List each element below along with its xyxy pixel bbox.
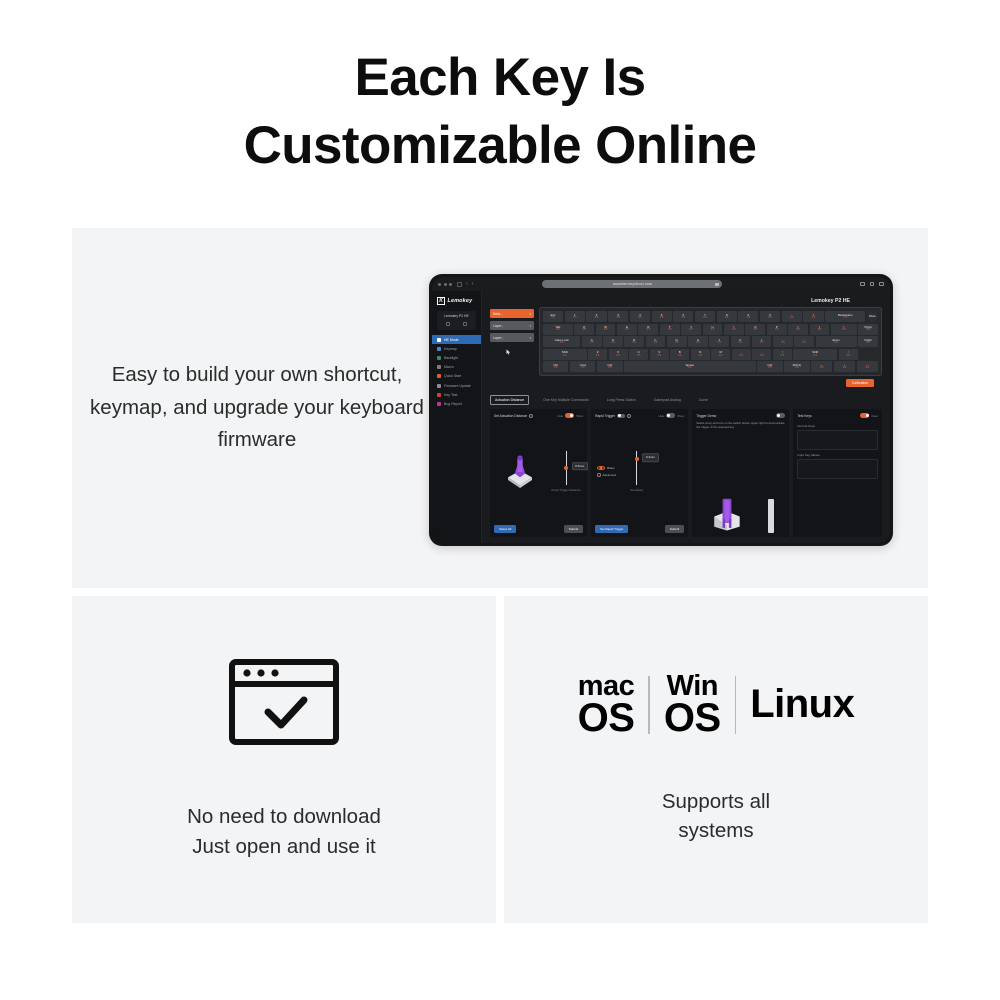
radio-dot-icon[interactable] xyxy=(597,466,605,469)
feature-card-no-download: No need to download Just open and use it xyxy=(72,596,496,923)
key-caps-lock[interactable]: Caps Lock0.5 xyxy=(543,336,580,347)
sidebar-item-key-test[interactable]: Key Test xyxy=(432,390,481,399)
key-actuation-value: 0.5 xyxy=(596,355,599,358)
key-actuation-value: 0.5 xyxy=(689,329,692,332)
submit-button[interactable]: Submit xyxy=(564,525,583,533)
no-download-line-2: Just open and use it xyxy=(187,832,381,862)
tab-actuation-distance[interactable]: Actuation Distance xyxy=(490,395,529,405)
key-actuation-value: 0.5 xyxy=(688,367,691,370)
key-1[interactable]: 10.5 xyxy=(565,311,585,322)
slider-caption: Sensitivity xyxy=(630,488,643,492)
key--[interactable]: ↓0.5 xyxy=(834,361,855,372)
bluetooth-icon[interactable] xyxy=(463,322,467,326)
os-logos: mac OS Win OS Linux xyxy=(578,673,855,736)
mode-radio-group[interactable]: Basic Advanced xyxy=(595,421,616,523)
key-n[interactable]: N0.5 xyxy=(691,349,710,360)
key-actuation-value: 0.5 xyxy=(866,367,869,370)
calibration-row: Calibration xyxy=(490,376,882,387)
feature-card-customize: Easy to build your own shortcut, keymap,… xyxy=(72,228,928,588)
key-actuation-value: 0.5 xyxy=(563,355,566,358)
slider-caption: Press Trigger Distance xyxy=(552,488,581,492)
card-test-keys: Test Keys Clear Current Keys Input Key xyxy=(793,409,882,537)
sidebar-item-label: Backlight xyxy=(444,356,458,360)
key-actuation-value: 0.5 xyxy=(551,317,554,320)
sidebar-item-firmware-update[interactable]: Firmware Update xyxy=(432,381,481,390)
clear-button[interactable]: Clear xyxy=(871,414,878,418)
key-opt[interactable]: Opt0.5 xyxy=(597,361,622,372)
tab-one-key-multiple-commands[interactable]: One Key Multiple Commands xyxy=(539,396,593,404)
key-r[interactable]: R0.5 xyxy=(638,324,658,335)
help-icon[interactable] xyxy=(529,414,533,418)
tab-gamepad-analog[interactable]: Gamepad Analog xyxy=(650,396,685,404)
key-actuation-value: 0.5 xyxy=(638,317,641,320)
key-i[interactable]: I0.5 xyxy=(724,324,744,335)
key--[interactable]: -0.5 xyxy=(782,311,802,322)
key--[interactable]: ←0.5 xyxy=(811,361,832,372)
card-header: Test Keys Clear xyxy=(797,413,878,418)
board-title: Lemokey P2 HE xyxy=(490,298,882,304)
key-actuation-value: 0.5 xyxy=(717,342,720,345)
no-download-line-1: No need to download xyxy=(187,802,381,832)
radio-basic[interactable]: Basic xyxy=(597,466,616,470)
key-actuation-value: 0.5 xyxy=(616,317,619,320)
card-body: 0.5mm Press Trigger Distance xyxy=(494,421,583,523)
travel-bar xyxy=(768,499,774,533)
key-actuation-value: 0.5 xyxy=(812,317,815,320)
stage-row: Defa... ▾ Layer... ▾ Layer... xyxy=(490,307,882,376)
sidebar-item-label: Macro xyxy=(444,365,454,369)
headline-line-2: Customizable Online xyxy=(0,112,1000,180)
firmware-update-icon xyxy=(437,384,441,388)
slider-track[interactable]: 0.5mm xyxy=(566,451,567,485)
key-actuation-value: 0.5 xyxy=(668,329,671,332)
select-all-button[interactable]: Select All xyxy=(494,525,516,533)
toggle-switch[interactable] xyxy=(666,413,675,418)
sensitivity-slider[interactable]: 0.4mm Sensitivity xyxy=(620,421,654,523)
key-8[interactable]: 80.5 xyxy=(717,311,737,322)
switch-render xyxy=(494,421,545,523)
tab-curve[interactable]: Curve xyxy=(695,396,712,404)
key-ctrl[interactable]: Ctrl0.5 xyxy=(543,361,568,372)
close-icon[interactable] xyxy=(438,283,441,286)
lemokey-mark-icon: K xyxy=(437,297,445,305)
chevron-down-icon: ▾ xyxy=(529,324,531,328)
panel-cards: Set Actuation Distance Hide Show xyxy=(490,409,882,537)
keyboard-row: Tab0.5Q0.5W0.5E0.5R0.5T0.5Y0.5U0.5I0.5O0… xyxy=(543,324,878,335)
key-actuation-value: 0.5 xyxy=(781,342,784,345)
rapid-trigger-toggle[interactable] xyxy=(617,414,625,418)
key-actuation-value: 0.5 xyxy=(678,355,681,358)
key-b[interactable]: B0.5 xyxy=(670,349,689,360)
input-key-values-label: Input Key Values xyxy=(797,453,878,457)
maximize-icon[interactable] xyxy=(449,283,452,286)
hide-show-toggle[interactable]: Hide Show xyxy=(557,413,583,418)
key-blank xyxy=(859,349,878,360)
key-7[interactable]: 70.5 xyxy=(695,311,715,322)
key-actuation-value: 0.5 xyxy=(711,329,714,332)
keymap-icon xyxy=(437,347,441,351)
key-actuation-value: 0.5 xyxy=(654,342,657,345)
key-s[interactable]: S0.5 xyxy=(603,336,623,347)
card-trigger-demo: Trigger Demo Select a key and turn on th… xyxy=(692,409,789,537)
set-rapid-trigger-button[interactable]: Set Rapid Trigger xyxy=(595,525,628,533)
key--[interactable]: [0.5 xyxy=(788,324,808,335)
key-g[interactable]: G0.5 xyxy=(667,336,687,347)
sidebar-item-backlight[interactable]: Backlight xyxy=(432,353,481,362)
card-description: Select a key and turn on the switch butt… xyxy=(696,421,785,430)
key--[interactable]: ;0.5 xyxy=(773,336,793,347)
slider-track[interactable]: 0.4mm xyxy=(636,451,637,485)
key-actuation-value: 0.5 xyxy=(754,329,757,332)
address-bar[interactable]: launcher.keychron.com xyxy=(542,280,722,288)
card-header: Set Actuation Distance Hide Show xyxy=(494,413,583,418)
key-actuation-value: 0.5 xyxy=(699,355,702,358)
key-actuation-value: 0.5 xyxy=(703,317,706,320)
key-c[interactable]: C0.5 xyxy=(629,349,648,360)
forward-arrow-icon[interactable]: › xyxy=(472,282,474,287)
key-3[interactable]: 30.5 xyxy=(608,311,628,322)
browser-chrome: ‹ › launcher.keychron.com xyxy=(432,277,890,291)
select-default-layer[interactable]: Defa... ▾ xyxy=(490,309,534,318)
feature-row-bottom: No need to download Just open and use it… xyxy=(72,596,928,923)
keyboard-row: Caps Lock0.5A0.5S0.5D0.5F0.5G0.5H0.5J0.5… xyxy=(543,336,878,347)
sidebar-item-label: Quick Start xyxy=(444,374,461,378)
key-mo-1-[interactable]: MO(1)0.5 xyxy=(784,361,809,372)
slider-thumb[interactable] xyxy=(564,466,568,470)
key-k[interactable]: K0.5 xyxy=(731,336,751,347)
select-layer-3[interactable]: Layer... ▾ xyxy=(490,333,534,342)
key--[interactable]: →0.5 xyxy=(857,361,878,372)
address-bar-url: launcher.keychron.com xyxy=(613,282,652,286)
card-title: Trigger Demo xyxy=(696,414,716,418)
key-actuation-value: 0.5 xyxy=(760,355,763,358)
key-actuation-value: 0.5 xyxy=(796,329,799,332)
minimize-icon[interactable] xyxy=(444,283,447,286)
calibration-button[interactable]: Calibration xyxy=(846,379,874,387)
tab-long-press-switch[interactable]: Long Press Switch xyxy=(603,396,640,404)
chevron-down-icon: ▾ xyxy=(529,312,531,316)
share-icon[interactable] xyxy=(860,282,865,287)
toggle-switch[interactable] xyxy=(565,413,574,418)
demo-toggle[interactable] xyxy=(776,413,785,418)
show-label: Show xyxy=(576,414,583,418)
sidebar-item-label: HE Mode xyxy=(444,338,459,342)
help-icon[interactable] xyxy=(627,414,631,418)
supports-line-1: Supports all xyxy=(662,787,770,817)
key-actuation-value: 0.5 xyxy=(611,342,614,345)
key-9[interactable]: 90.5 xyxy=(738,311,758,322)
key--[interactable]: ,0.5 xyxy=(732,349,751,360)
key-tab[interactable]: Tab0.5 xyxy=(543,324,573,335)
sidebar-item-he-mode[interactable]: HE Mode xyxy=(432,335,481,344)
key-pgup[interactable]: PgUp0.5 xyxy=(858,324,878,335)
key-actuation-value: 0.5 xyxy=(818,329,821,332)
device-card[interactable]: Lemokey P2 HE xyxy=(437,311,476,330)
key-h[interactable]: H0.5 xyxy=(688,336,708,347)
key-w[interactable]: W0.5 xyxy=(596,324,616,335)
backlight-icon xyxy=(437,356,441,360)
sidebar-item-label: Keymap xyxy=(444,347,457,351)
keyboard-row: Esc0.510.520.530.540.550.560.570.580.590… xyxy=(543,311,878,322)
key-m[interactable]: M0.5 xyxy=(711,349,730,360)
key-actuation-value: 0.5 xyxy=(632,342,635,345)
key-actuation-value: 0.5 xyxy=(647,329,650,332)
key-actuation-value: 0.5 xyxy=(725,317,728,320)
card-title: Test Keys xyxy=(797,414,811,418)
key--[interactable]: ]0.5 xyxy=(810,324,830,335)
app-sidebar: K Lemokey Lemokey P2 HE HE xyxy=(432,291,482,543)
key-actuation-value: 0.5 xyxy=(682,317,685,320)
key-y[interactable]: Y0.5 xyxy=(681,324,701,335)
keyboard-stage: Lemokey P2 HE Defa... ▾ Layer... xyxy=(482,291,890,391)
bug-report-icon xyxy=(437,402,441,406)
key-t[interactable]: T0.5 xyxy=(660,324,680,335)
key-actuation-value: 0.5 xyxy=(790,317,793,320)
card-title: Rapid Trigger xyxy=(595,414,631,418)
hide-label: Hide xyxy=(658,414,664,418)
keyboard-row: Shift0.5Z0.5X0.5C0.5V0.5B0.5N0.5M0.5,0.5… xyxy=(543,349,878,360)
back-arrow-icon[interactable]: ‹ xyxy=(466,282,468,287)
card-title: Set Actuation Distance xyxy=(494,414,533,418)
reader-mode-icon[interactable] xyxy=(715,283,719,286)
key-u[interactable]: U0.5 xyxy=(703,324,723,335)
winos-logo: Win OS xyxy=(664,673,721,736)
key--[interactable]: '0.5 xyxy=(794,336,814,347)
key-actuation-value: 0.5 xyxy=(802,342,805,345)
laptop-mockup: ‹ › launcher.keychron.com xyxy=(429,274,893,546)
key-actuation-value: 0.5 xyxy=(844,317,847,320)
sidebar-item-bug-report[interactable]: Bug Report xyxy=(432,399,481,408)
usb-icon[interactable] xyxy=(446,322,450,326)
key-actuation-value: 0.5 xyxy=(739,342,742,345)
input-key-values-field[interactable] xyxy=(797,459,878,479)
slider-value: 0.4mm xyxy=(642,453,658,461)
sidebar-item-keymap[interactable]: Keymap xyxy=(432,344,481,353)
key-o[interactable]: O0.5 xyxy=(745,324,765,335)
current-keys-field[interactable] xyxy=(797,430,878,450)
app-main: Lemokey P2 HE Defa... ▾ Layer... xyxy=(482,291,890,543)
key-actuation-value: 0.5 xyxy=(637,355,640,358)
key-pgdn[interactable]: PgDn0.5 xyxy=(858,336,878,347)
key-actuation-value: 0.5 xyxy=(820,367,823,370)
quick-start-icon xyxy=(437,374,441,378)
key-shift[interactable]: Shift0.5 xyxy=(793,349,837,360)
key-shift[interactable]: Shift0.5 xyxy=(543,349,587,360)
key-z[interactable]: Z0.5 xyxy=(588,349,607,360)
device-name: Lemokey P2 HE xyxy=(440,314,473,318)
actuation-slider[interactable]: 0.5mm Press Trigger Distance xyxy=(549,421,583,523)
radio-dot-icon[interactable] xyxy=(597,473,600,476)
chrome-actions xyxy=(860,282,884,287)
key-2[interactable]: 20.5 xyxy=(586,311,606,322)
brand-logo: K Lemokey xyxy=(432,295,481,308)
sidebar-toggle-icon[interactable] xyxy=(457,282,462,287)
key-enter[interactable]: Enter0.5 xyxy=(816,336,857,347)
key-actuation-value: 0.5 xyxy=(696,342,699,345)
card-header: Trigger Demo xyxy=(696,413,785,418)
he-settings-panel: Actuation Distance One Key Multiple Comm… xyxy=(482,391,890,543)
sidebar-item-quick-start[interactable]: Quick Start xyxy=(432,372,481,381)
key-actuation-value: 0.5 xyxy=(625,329,628,332)
select-label: Layer... xyxy=(493,336,504,340)
divider xyxy=(735,676,737,734)
cursor-pointer-icon xyxy=(506,349,511,355)
card-body: Basic Advanced xyxy=(595,421,684,523)
key-0[interactable]: 00.5 xyxy=(760,311,780,322)
feature-grid: Easy to build your own shortcut, keymap,… xyxy=(72,228,928,923)
key-actuation-value: 0.5 xyxy=(660,317,663,320)
key-actuation-value: 0.5 xyxy=(573,317,576,320)
window-traffic-lights[interactable] xyxy=(438,283,452,286)
key-actuation-value: 0.5 xyxy=(582,329,585,332)
supports-all-text: Supports all systems xyxy=(662,787,770,846)
key--[interactable]: .0.5 xyxy=(752,349,771,360)
brand-name: Lemokey xyxy=(448,298,473,304)
key-actuation-value: 0.5 xyxy=(768,367,771,370)
key-a[interactable]: A0.5 xyxy=(582,336,602,347)
key-actuation-value: 0.5 xyxy=(740,355,743,358)
key-6[interactable]: 60.5 xyxy=(673,311,693,322)
demo-visual xyxy=(696,434,785,533)
card-rapid-trigger: Rapid Trigger Hide Show xyxy=(591,409,688,537)
key-actuation-value: 0.5 xyxy=(616,355,619,358)
key-actuation-value: 0.5 xyxy=(781,355,784,358)
magnetic-switch-icon xyxy=(500,452,540,492)
macro-icon xyxy=(437,365,441,369)
key-actuation-value: 0.5 xyxy=(795,367,798,370)
chevron-down-icon: ▾ xyxy=(529,336,531,340)
key-actuation-value: 0.5 xyxy=(675,342,678,345)
no-download-text: No need to download Just open and use it xyxy=(187,802,381,861)
card-actions: Set Rapid Trigger Submit xyxy=(595,525,684,533)
key--[interactable]: \0.5 xyxy=(831,324,857,335)
key-mute[interactable]: Mute xyxy=(867,311,878,322)
key-e[interactable]: E0.5 xyxy=(617,324,637,335)
keyboard-row: Ctrl0.5Cmd0.5Opt0.5Space0.5Opt0.5MO(1)0.… xyxy=(543,361,878,372)
magnetic-switch-icon xyxy=(708,495,746,533)
sidebar-item-label: Key Test xyxy=(444,393,457,397)
key-actuation-value: 0.5 xyxy=(554,367,557,370)
feature-card-supports-all-systems: mac OS Win OS Linux Supports all systems xyxy=(504,596,928,923)
tabs-overview-icon[interactable] xyxy=(879,282,884,287)
key-f[interactable]: F0.5 xyxy=(646,336,666,347)
key-actuation-value: 0.5 xyxy=(866,329,869,332)
test-keys-controls: Clear xyxy=(860,413,878,418)
key-q[interactable]: Q0.5 xyxy=(574,324,594,335)
key-x[interactable]: X0.5 xyxy=(609,349,628,360)
layer-selects: Defa... ▾ Layer... ▾ Layer... xyxy=(490,307,534,355)
new-tab-icon[interactable] xyxy=(870,282,875,287)
key-actuation-value: 0.5 xyxy=(608,367,611,370)
slider-value: 0.5mm xyxy=(572,462,588,470)
linux-logo: Linux xyxy=(750,682,854,727)
key-actuation-value: 0.5 xyxy=(604,329,607,332)
key-actuation-value: 0.5 xyxy=(595,317,598,320)
radio-advanced[interactable]: Advanced xyxy=(597,473,616,477)
key-actuation-value: 0.5 xyxy=(834,342,837,345)
key-l[interactable]: L0.5 xyxy=(752,336,772,347)
card-actions: Select All Submit xyxy=(494,525,583,533)
panel-tabs: Actuation Distance One Key Multiple Comm… xyxy=(490,395,882,405)
key-test-icon xyxy=(437,393,441,397)
key--[interactable]: =0.5 xyxy=(803,311,823,322)
key-actuation-value: 0.5 xyxy=(657,355,660,358)
key-actuation-value: 0.5 xyxy=(581,367,584,370)
key-actuation-value: 0.5 xyxy=(760,342,763,345)
test-keys-toggle[interactable] xyxy=(860,413,869,418)
select-label: Layer... xyxy=(493,324,504,328)
supports-line-2: systems xyxy=(662,816,770,846)
key-actuation-value: 0.5 xyxy=(842,329,845,332)
launcher-app: K Lemokey Lemokey P2 HE HE xyxy=(432,291,890,543)
key-actuation-value: 0.5 xyxy=(747,317,750,320)
hide-label: Hide xyxy=(557,414,563,418)
key-j[interactable]: J0.5 xyxy=(709,336,729,347)
key-p[interactable]: P0.5 xyxy=(767,324,787,335)
key-actuation-value: 0.5 xyxy=(732,329,735,332)
macos-logo: mac OS xyxy=(578,673,635,736)
he-mode-icon xyxy=(437,338,441,342)
key-actuation-value: 0.5 xyxy=(843,367,846,370)
key-actuation-value: 0.5 xyxy=(590,342,593,345)
key-cmd[interactable]: Cmd0.5 xyxy=(570,361,595,372)
headline-line-1: Each Key Is xyxy=(0,44,1000,112)
divider xyxy=(648,676,650,734)
key-opt[interactable]: Opt0.5 xyxy=(757,361,782,372)
show-label: Show xyxy=(677,414,684,418)
key-5[interactable]: 50.5 xyxy=(652,311,672,322)
sidebar-item-label: Firmware Update xyxy=(444,384,471,388)
submit-button[interactable]: Submit xyxy=(665,525,684,533)
key--[interactable]: ↑0.5 xyxy=(839,349,858,360)
key-space[interactable]: Space0.5 xyxy=(624,361,755,372)
key-4[interactable]: 40.5 xyxy=(630,311,650,322)
select-label: Defa... xyxy=(493,312,503,316)
key-backspace[interactable]: Backspace0.5 xyxy=(825,311,865,322)
key-actuation-value: 0.5 xyxy=(866,342,869,345)
slider-thumb[interactable] xyxy=(635,457,639,461)
key-actuation-value: 0.5 xyxy=(846,355,849,358)
key-v[interactable]: V0.5 xyxy=(650,349,669,360)
key-actuation-value: 0.5 xyxy=(719,355,722,358)
key-actuation-value: 0.5 xyxy=(560,342,563,345)
device-card-actions xyxy=(440,322,473,326)
sidebar-item-label: Bug Report xyxy=(444,402,462,406)
select-layer-2[interactable]: Layer... ▾ xyxy=(490,321,534,330)
hide-show-toggle[interactable]: Hide Show xyxy=(658,413,684,418)
key-actuation-value: 0.5 xyxy=(775,329,778,332)
laptop-screen: ‹ › launcher.keychron.com xyxy=(432,277,890,543)
key-actuation-value: 0.5 xyxy=(556,329,559,332)
key-d[interactable]: D0.5 xyxy=(624,336,644,347)
key-label: Mute xyxy=(869,315,876,318)
browser-check-icon xyxy=(228,658,340,746)
sidebar-item-macro[interactable]: Macro xyxy=(432,363,481,372)
current-keys-label: Current Keys xyxy=(797,424,878,428)
key-actuation-value: 0.5 xyxy=(813,355,816,358)
card-set-actuation-distance: Set Actuation Distance Hide Show xyxy=(490,409,587,537)
feature-copy: Easy to build your own shortcut, keymap,… xyxy=(72,359,424,456)
key-actuation-value: 0.5 xyxy=(768,317,771,320)
keyboard-layout[interactable]: Esc0.510.520.530.540.550.560.570.580.590… xyxy=(539,307,882,376)
card-header: Rapid Trigger Hide Show xyxy=(595,413,684,418)
key--[interactable]: /0.5 xyxy=(773,349,792,360)
key-esc[interactable]: Esc0.5 xyxy=(543,311,563,322)
page-title: Each Key Is Customizable Online xyxy=(0,0,1000,180)
